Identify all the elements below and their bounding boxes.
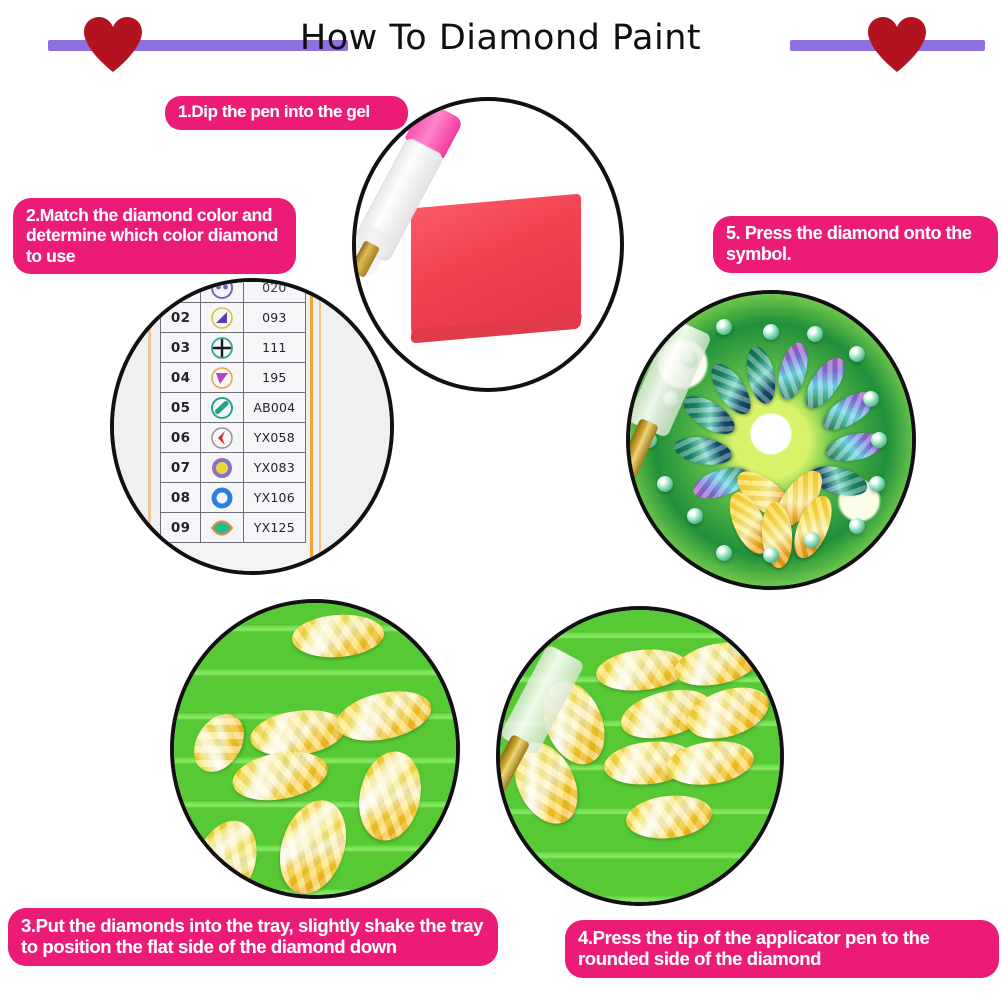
chart-cell-code: 04 bbox=[161, 363, 201, 393]
chart-cell-dmc: AB004 bbox=[243, 393, 305, 423]
mandala-round-gem bbox=[763, 324, 779, 340]
chart-cell-dmc: YX083 bbox=[243, 453, 305, 483]
table-row: 02093 bbox=[161, 303, 306, 333]
page-header: How To Diamond Paint bbox=[0, 0, 1001, 80]
chart-cell-code: 07 bbox=[161, 453, 201, 483]
photo-press-diamond-on-symbol bbox=[626, 290, 916, 590]
page-title: How To Diamond Paint bbox=[0, 18, 1001, 58]
ring-icon bbox=[201, 483, 243, 513]
chart-orange-line-2 bbox=[319, 278, 321, 575]
mandala-round-gem bbox=[863, 391, 879, 407]
mandala-round-gem bbox=[807, 326, 823, 342]
chart-cell-dmc: YX106 bbox=[243, 483, 305, 513]
chart-cell-dmc: 111 bbox=[243, 333, 305, 363]
table-row: 020 bbox=[161, 278, 306, 303]
photo-press-diamond-on-symbol-inner bbox=[630, 294, 912, 586]
step-3-label: 3.Put the diamonds into the tray, slight… bbox=[8, 908, 498, 966]
chart-cell-code: 03 bbox=[161, 333, 201, 363]
table-row: 07YX083 bbox=[161, 453, 306, 483]
photo-diamonds-in-tray-inner bbox=[174, 603, 456, 895]
mandala-round-gem bbox=[687, 508, 703, 524]
double-dot-icon bbox=[201, 278, 243, 303]
chart-cell-code: 09 bbox=[161, 513, 201, 543]
leaf-icon bbox=[201, 513, 243, 543]
gel-pad bbox=[411, 194, 581, 334]
table-row: 06YX058 bbox=[161, 423, 306, 453]
triangle-icon bbox=[201, 303, 243, 333]
table-row: 03111 bbox=[161, 333, 306, 363]
mandala-round-gem bbox=[804, 532, 820, 548]
triangle-down-icon bbox=[201, 363, 243, 393]
mandala-round-gem bbox=[763, 547, 779, 563]
plus-icon bbox=[201, 333, 243, 363]
chart-cell-dmc: 093 bbox=[243, 303, 305, 333]
photo-color-chart: 02002093031110419505AB00406YX05807YX0830… bbox=[110, 278, 394, 575]
step-2-label: 2.Match the diamond color and determine … bbox=[13, 198, 296, 274]
chart-cell-code bbox=[161, 278, 201, 303]
filled-circle-icon bbox=[201, 453, 243, 483]
step-4-label: 4.Press the tip of the applicator pen to… bbox=[565, 920, 999, 978]
chart-cell-code: 02 bbox=[161, 303, 201, 333]
table-row: 08YX106 bbox=[161, 483, 306, 513]
mandala-round-gem bbox=[849, 346, 865, 362]
table-row: 09YX125 bbox=[161, 513, 306, 543]
photo-diamonds-in-tray bbox=[170, 599, 460, 899]
chart-cell-dmc: YX125 bbox=[243, 513, 305, 543]
photo-pen-dipping-gel-inner bbox=[356, 101, 620, 388]
chart-cell-code: 06 bbox=[161, 423, 201, 453]
step-5-label: 5. Press the diamond onto the symbol. bbox=[713, 216, 998, 273]
photo-pen-picking-diamond-inner bbox=[500, 610, 780, 902]
chart-edge-left bbox=[148, 278, 151, 575]
mandala-round-gem bbox=[657, 476, 673, 492]
chart-cell-code: 08 bbox=[161, 483, 201, 513]
color-chart-table: 02002093031110419505AB00406YX05807YX0830… bbox=[160, 278, 306, 543]
chart-cell-dmc: YX058 bbox=[243, 423, 305, 453]
mandala-round-gem bbox=[871, 432, 887, 448]
photo-color-chart-inner: 02002093031110419505AB00406YX05807YX0830… bbox=[114, 282, 390, 571]
arrow-left-icon bbox=[201, 423, 243, 453]
chart-cell-code: 05 bbox=[161, 393, 201, 423]
slash-oval-icon bbox=[201, 393, 243, 423]
photo-pen-dipping-gel bbox=[352, 97, 624, 392]
photo-pen-picking-diamond bbox=[496, 606, 784, 906]
chart-cell-dmc: 020 bbox=[243, 278, 305, 303]
chart-orange-line bbox=[310, 278, 313, 575]
mandala-round-gem bbox=[716, 545, 732, 561]
infographic-page: How To Diamond Paint 1.Dip the pen into … bbox=[0, 0, 1001, 1001]
chart-cell-dmc: 195 bbox=[243, 363, 305, 393]
table-row: 04195 bbox=[161, 363, 306, 393]
table-row: 05AB004 bbox=[161, 393, 306, 423]
